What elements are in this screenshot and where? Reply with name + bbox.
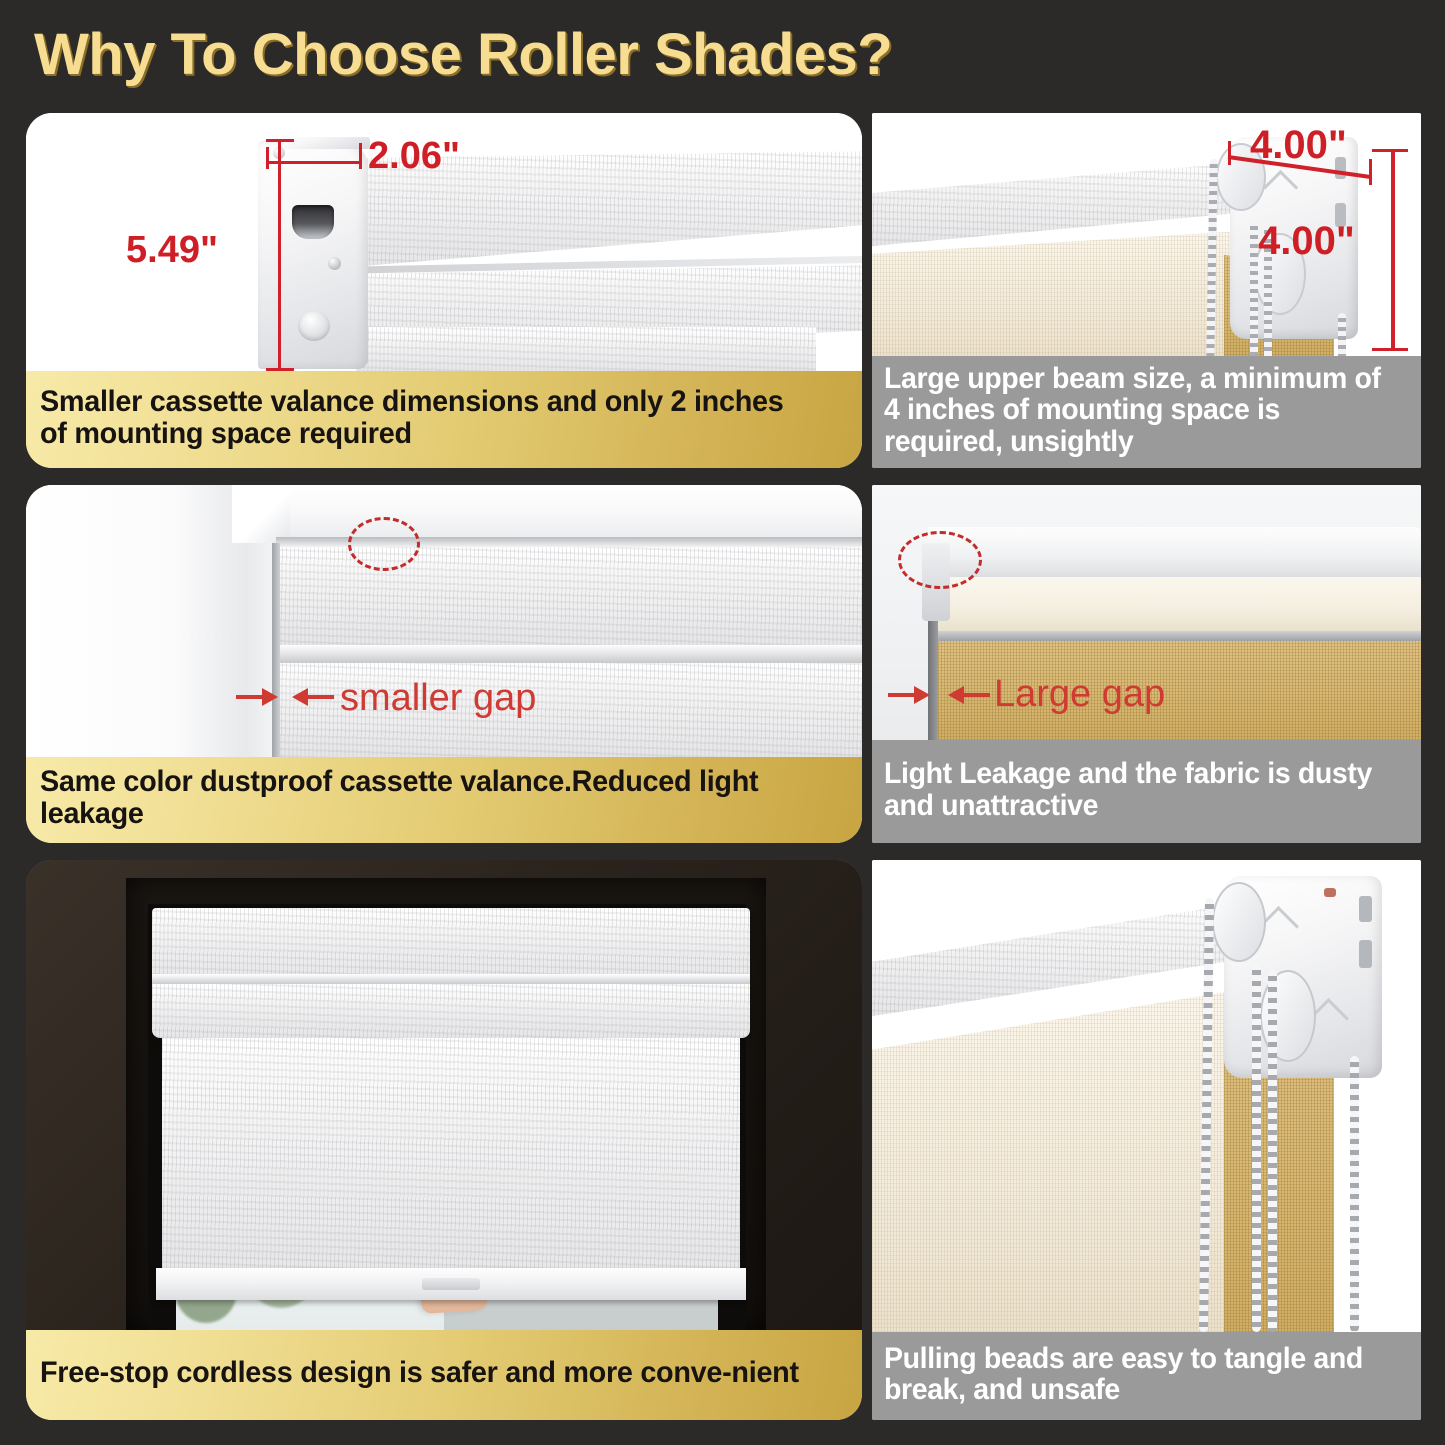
panel-3-image: smaller gap — [26, 485, 862, 757]
panel-3-caption-text: Same color dustproof cassette valance.Re… — [40, 766, 816, 830]
left-side-gap-shadow — [928, 603, 938, 740]
shade-cassette-head — [152, 908, 750, 982]
infographic-page: Why To Choose Roller Shades? 2.06" — [0, 0, 1445, 1445]
width-dimension-tick-right — [359, 143, 362, 169]
gap-arrow-left-icon — [236, 683, 280, 711]
gap-arrow-right-icon — [290, 683, 334, 711]
panel-large-upper-beam: 4.00" 4.00" Large upper beam size, a min… — [872, 113, 1421, 468]
window-frame-corner-miter — [232, 485, 290, 543]
width-dimension-tick-left — [1228, 141, 1231, 165]
bracket-hook-slot-top — [1359, 896, 1372, 922]
panel-4-caption-text: Light Leakage and the fabric is dusty an… — [884, 758, 1383, 820]
panel-6-caption-text: Pulling beads are easy to tangle and bre… — [884, 1343, 1383, 1405]
bead-chain-2 — [1252, 964, 1261, 1332]
panel-4-image: Large gap — [872, 485, 1421, 740]
panel-5-caption-bar: Free-stop cordless design is safer and m… — [26, 1330, 862, 1420]
gap-highlight-circle — [348, 517, 420, 571]
gap-arrow-left-icon — [888, 681, 932, 709]
height-dimension-tick-top — [266, 139, 294, 142]
bead-chain-4 — [1350, 1056, 1359, 1332]
panel-6-caption-bar: Pulling beads are easy to tangle and bre… — [872, 1332, 1421, 1420]
height-dimension-line — [278, 139, 281, 371]
shade-mid-rail — [278, 645, 862, 663]
shade-bottom-rail-grip — [422, 1278, 480, 1290]
shade-fabric-front — [872, 990, 1238, 1332]
panel-dustproof-valance: smaller gap Same color dustproof cassett… — [26, 485, 862, 843]
panel-2-caption-bar: Large upper beam size, a minimum of 4 in… — [872, 356, 1421, 468]
roller-end-disc-upper — [1212, 882, 1266, 962]
gap-callout-label: smaller gap — [340, 677, 536, 720]
panel-cordless-design: Free-stop cordless design is safer and m… — [26, 860, 862, 1420]
shade-fabric-drop — [162, 1038, 740, 1284]
gap-highlight-circle — [898, 531, 982, 589]
gap-arrow-right-icon — [946, 681, 990, 709]
panel-1-caption-bar: Smaller cassette valance dimensions and … — [26, 371, 862, 468]
panel-smaller-cassette: 2.06" 5.49" Smaller cassette valance dim… — [26, 113, 862, 468]
page-title: Why To Choose Roller Shades? — [34, 20, 1134, 90]
bracket-hook-slot-bottom — [1359, 940, 1372, 968]
bead-chain-4 — [1338, 313, 1346, 356]
height-dimension-line — [1391, 149, 1395, 351]
panel-4-caption-bar: Light Leakage and the fabric is dusty an… — [872, 740, 1421, 843]
panel-5-caption-text: Free-stop cordless design is safer and m… — [40, 1357, 799, 1389]
bead-chain-3 — [1268, 970, 1277, 1332]
width-dimension-tick-left — [266, 147, 269, 169]
bead-chain-2 — [1250, 221, 1258, 356]
panel-pulling-beads: Pulling beads are easy to tangle and bre… — [872, 860, 1421, 1420]
shade-cassette-lower-roll — [152, 984, 750, 1038]
height-dimension-tick-top — [1372, 149, 1408, 152]
height-dimension-label: 5.49" — [126, 229, 218, 272]
height-dimension-tick-bottom — [1372, 348, 1408, 351]
side-channel-edge — [272, 543, 280, 757]
bracket-screw-hole — [1324, 888, 1336, 897]
panel-1-image: 2.06" 5.49" — [26, 113, 862, 371]
width-dimension-tick-right — [1369, 159, 1372, 185]
valance-bottom-edge — [932, 631, 1421, 641]
panel-2-image: 4.00" 4.00" — [872, 113, 1421, 356]
height-dimension-label: 4.00" — [1258, 219, 1355, 264]
end-cap-pin — [298, 311, 330, 341]
panel-2-caption-text: Large upper beam size, a minimum of 4 in… — [884, 363, 1383, 457]
width-dimension-label: 2.06" — [368, 135, 460, 178]
end-cap-bracket-slot — [292, 205, 334, 239]
end-cap-screw-middle — [328, 257, 341, 270]
shade-fabric-front — [872, 231, 1242, 356]
window-frame-head-trim — [236, 485, 862, 543]
cassette-fabric-drop — [356, 327, 816, 371]
panel-6-image — [872, 860, 1421, 1332]
gap-callout-label: Large gap — [994, 673, 1165, 716]
head-rail-top — [928, 527, 1421, 581]
panel-3-caption-bar: Same color dustproof cassette valance.Re… — [26, 757, 862, 843]
width-dimension-label: 4.00" — [1250, 123, 1347, 168]
panel-5-image — [26, 860, 862, 1330]
valance-band-cream — [936, 577, 1421, 633]
panel-1-caption-text: Smaller cassette valance dimensions and … — [40, 386, 816, 450]
panel-light-leakage: Large gap Light Leakage and the fabric i… — [872, 485, 1421, 843]
